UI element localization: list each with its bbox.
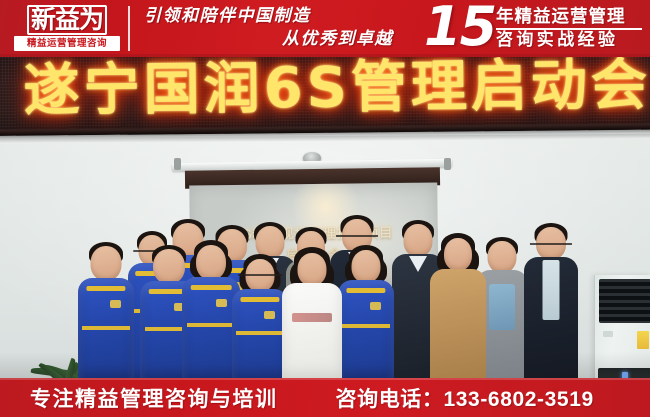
years-underline [496, 28, 642, 30]
ac-energy-label [637, 331, 649, 349]
footer-bar: 专注精益管理咨询与培训 咨询电话：133-6802-3519 [0, 378, 650, 417]
glasses-icon [530, 243, 572, 250]
logo-brand-mark: 新益为 [14, 4, 120, 35]
collar-stripe [191, 285, 232, 290]
experience-years-block: 15 年精益运营管理 咨询实战经验 [424, 1, 642, 56]
face [352, 250, 381, 283]
uniform-badge [110, 300, 121, 308]
promo-banner-image: 新益为 精益运营管理咨询 引领和陪伴中国制造 从优秀到卓越 15 年精益运营管理… [0, 0, 650, 417]
collar-stripe [240, 297, 279, 302]
shirt-collar [409, 256, 427, 272]
logo-brand-text: 新益为 [27, 5, 107, 35]
face [488, 241, 517, 273]
uniform-badge [264, 311, 275, 319]
person-7 [282, 247, 342, 378]
person-6 [232, 254, 288, 378]
navy-suit-body [524, 257, 578, 378]
slogan-line-2: 从优秀到卓越 [140, 28, 415, 51]
face [444, 238, 472, 271]
slogan-line-1: 引领和陪伴中国制造 [140, 5, 415, 28]
led-banner-text: 遂宁国润6S管理启动会 [0, 57, 650, 131]
dress-shirt [543, 260, 560, 320]
inner-tshirt [489, 284, 515, 330]
sleeve-stripe [236, 331, 283, 335]
header-bar: 新益为 精益运营管理咨询 引领和陪伴中国制造 从优秀到卓越 15 年精益运营管理… [0, 0, 650, 57]
face [196, 245, 226, 280]
led-display-banner: 遂宁国润6S管理启动会 [0, 57, 650, 136]
roller-cap-left [174, 158, 181, 170]
person-16 [338, 245, 394, 378]
hoodie-logo [292, 313, 332, 322]
ac-vent-grille [599, 279, 650, 323]
years-line-1: 年精益运营管理 [496, 4, 642, 28]
company-logo: 新益为 精益运营管理咨询 [14, 4, 120, 52]
uniform-badge [370, 302, 381, 310]
footer-phone: 咨询电话：133-6802-3519 [336, 383, 594, 413]
group-photo: 遂宁国润6S管理启动会 6S精益现场管理提升项目 启动大会 国润建水 [0, 57, 650, 378]
header-slogan: 引领和陪伴中国制造 从优秀到卓越 [140, 5, 415, 53]
uniform-body [78, 278, 134, 378]
uniform-body [232, 289, 288, 378]
camel-coat-body [430, 269, 486, 378]
face [298, 253, 327, 286]
glasses-icon [336, 235, 378, 242]
glasses-icon [238, 274, 282, 281]
years-line-2: 咨询实战经验 [496, 28, 642, 52]
person-9 [430, 233, 486, 378]
roller-cap-right [444, 158, 451, 170]
footer-slogan: 专注精益管理咨询与培训 [30, 383, 278, 413]
logo-tagline: 精益运营管理咨询 [14, 36, 120, 51]
face [404, 224, 433, 257]
person-15 [524, 223, 578, 378]
collar-stripe [346, 288, 385, 293]
collar-stripe [86, 286, 125, 291]
sleeve-stripe [342, 324, 389, 328]
sleeve-stripe [187, 323, 236, 327]
uniform-badge [216, 299, 227, 307]
person-1 [78, 242, 134, 378]
white-hoodie-body [282, 283, 342, 378]
sleeve-stripe [82, 326, 129, 330]
header-divider [128, 6, 130, 51]
years-number: 15 [424, 0, 495, 55]
face [153, 249, 185, 284]
uniform-body [338, 280, 394, 378]
ac-brand-mark [603, 331, 613, 337]
face [91, 246, 122, 281]
